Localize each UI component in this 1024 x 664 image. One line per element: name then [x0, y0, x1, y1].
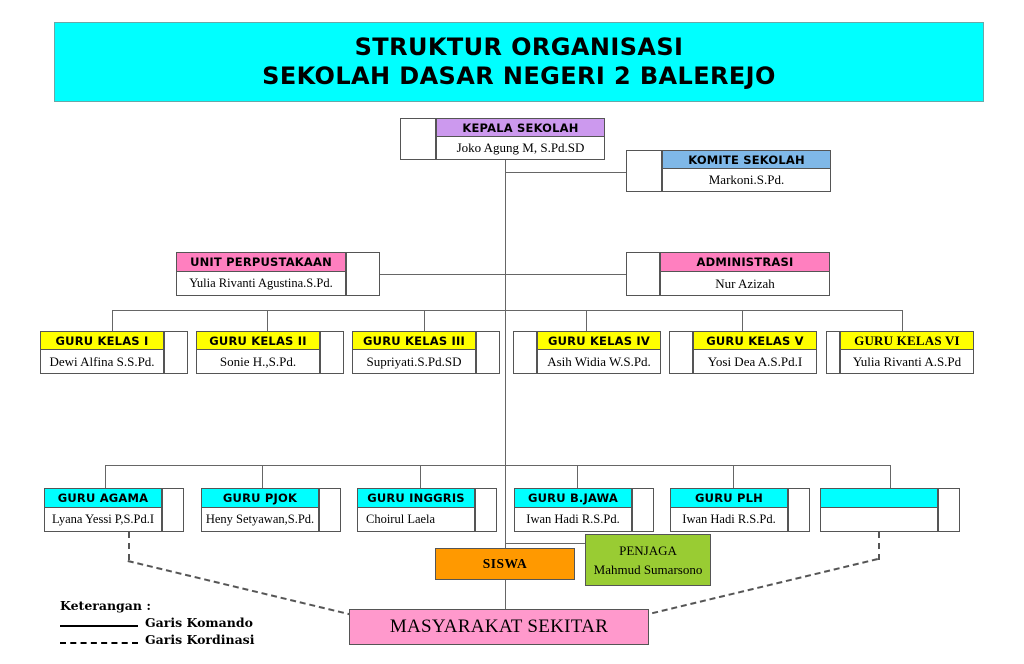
- node-guru-bjawa[interactable]: GURU B.JAWA Iwan Hadi R.S.Pd.: [514, 488, 654, 532]
- connector-stub-kelas-6: [826, 331, 840, 374]
- node-guru-kelas-3[interactable]: GURU KELAS III Supriyati.S.Pd.SD: [352, 331, 500, 374]
- node-guru-kelas-4-name: Asih Widia W.S.Pd.: [537, 350, 661, 374]
- connector-stub-kelas-5: [669, 331, 693, 374]
- node-guru-inggris[interactable]: GURU INGGRIS Choirul Laela: [357, 488, 497, 532]
- node-guru-bjawa-body: GURU B.JAWA Iwan Hadi R.S.Pd.: [514, 488, 632, 532]
- connector-admin-row: [379, 274, 627, 275]
- connector-drop-mapel-3: [420, 465, 421, 489]
- legend-row-komando: Garis Komando: [60, 615, 254, 631]
- organization-chart: STRUKTUR ORGANISASI SEKOLAH DASAR NEGERI…: [0, 0, 1024, 664]
- connector-stub-bjawa: [632, 488, 654, 532]
- legend-kordinasi-label: Garis Kordinasi: [145, 632, 254, 648]
- node-guru-kelas-2-body: GURU KELAS II Sonie H.,S.Pd.: [196, 331, 320, 374]
- chart-title-line-2: SEKOLAH DASAR NEGERI 2 BALEREJO: [262, 62, 776, 91]
- node-guru-kelas-5[interactable]: GURU KELAS V Yosi Dea A.S.Pd.I: [669, 331, 817, 374]
- node-unit-perpustakaan[interactable]: UNIT PERPUSTAKAAN Yulia Rivanti Agustina…: [176, 252, 380, 296]
- connector-drop-mapel-6: [890, 465, 891, 489]
- node-guru-kelas-2-name: Sonie H.,S.Pd.: [196, 350, 320, 374]
- node-administrasi-title: ADMINISTRASI: [660, 252, 830, 272]
- node-guru-kelas-3-body: GURU KELAS III Supriyati.S.Pd.SD: [352, 331, 476, 374]
- node-guru-pjok-title: GURU PJOK: [201, 488, 319, 508]
- node-komite-title: KOMITE SEKOLAH: [662, 150, 831, 169]
- legend: Keterangan : Garis Komando Garis Kordina…: [60, 598, 254, 647]
- connector-stub-kelas-2: [320, 331, 344, 374]
- node-guru-empty-title: [820, 488, 938, 508]
- node-guru-agama[interactable]: GURU AGAMA Lyana Yessi P,S.Pd.I: [44, 488, 184, 532]
- node-kepala-sekolah[interactable]: KEPALA SEKOLAH Joko Agung M, S.Pd.SD: [400, 118, 605, 160]
- connector-drop-mapel-5: [733, 465, 734, 489]
- connector-drop-kelas-6: [902, 310, 903, 332]
- node-guru-kelas-1-body: GURU KELAS I Dewi Alfina S.S.Pd.: [40, 331, 164, 374]
- node-siswa[interactable]: SISWA: [435, 548, 575, 580]
- connector-stub-komite: [626, 150, 662, 192]
- node-guru-agama-name: Lyana Yessi P,S.Pd.I: [44, 508, 162, 532]
- node-perpustakaan-name: Yulia Rivanti Agustina.S.Pd.: [176, 272, 346, 296]
- node-perpustakaan-title: UNIT PERPUSTAKAAN: [176, 252, 346, 272]
- connector-stub-plh: [788, 488, 810, 532]
- legend-komando-label: Garis Komando: [145, 615, 253, 631]
- node-guru-kelas-6-title: GURU KELAS VI: [840, 331, 974, 350]
- connector-drop-kelas-2: [267, 310, 268, 332]
- node-kepala-body: KEPALA SEKOLAH Joko Agung M, S.Pd.SD: [436, 118, 605, 160]
- node-guru-inggris-title: GURU INGGRIS: [357, 488, 475, 508]
- connector-stub-kepala: [400, 118, 436, 160]
- node-guru-agama-title: GURU AGAMA: [44, 488, 162, 508]
- connector-stub-administrasi: [626, 252, 660, 296]
- connector-guru-mapel-bus: [105, 465, 890, 466]
- node-guru-inggris-body: GURU INGGRIS Choirul Laela: [357, 488, 475, 532]
- node-perpustakaan-body: UNIT PERPUSTAKAAN Yulia Rivanti Agustina…: [176, 252, 346, 296]
- node-guru-plh-name: Iwan Hadi R.S.Pd.: [670, 508, 788, 532]
- connector-stub-agama: [162, 488, 184, 532]
- node-guru-kelas-2-title: GURU KELAS II: [196, 331, 320, 350]
- connector-to-komite: [505, 172, 627, 173]
- connector-drop-kelas-4: [586, 310, 587, 332]
- connector-drop-mapel-1: [105, 465, 106, 489]
- coordination-line-left-stub: [128, 532, 130, 560]
- connector-drop-kelas-5: [742, 310, 743, 332]
- node-masyarakat-sekitar[interactable]: MASYARAKAT SEKITAR: [349, 609, 649, 645]
- node-guru-kelas-2[interactable]: GURU KELAS II Sonie H.,S.Pd.: [196, 331, 344, 374]
- node-kepala-title: KEPALA SEKOLAH: [436, 118, 605, 137]
- coordination-line-right-stub: [878, 532, 880, 560]
- connector-stub-kelas-4: [513, 331, 537, 374]
- node-guru-kelas-4[interactable]: GURU KELAS IV Asih Widia W.S.Pd.: [513, 331, 661, 374]
- node-guru-kelas-5-body: GURU KELAS V Yosi Dea A.S.Pd.I: [693, 331, 817, 374]
- node-guru-kelas-1-name: Dewi Alfina S.S.Pd.: [40, 350, 164, 374]
- node-guru-bjawa-title: GURU B.JAWA: [514, 488, 632, 508]
- node-guru-kelas-3-title: GURU KELAS III: [352, 331, 476, 350]
- node-guru-plh-title: GURU PLH: [670, 488, 788, 508]
- node-guru-bjawa-name: Iwan Hadi R.S.Pd.: [514, 508, 632, 532]
- node-guru-kelas-4-body: GURU KELAS IV Asih Widia W.S.Pd.: [537, 331, 661, 374]
- node-guru-kelas-1[interactable]: GURU KELAS I Dewi Alfina S.S.Pd.: [40, 331, 188, 374]
- node-guru-plh[interactable]: GURU PLH Iwan Hadi R.S.Pd.: [670, 488, 810, 532]
- node-guru-plh-body: GURU PLH Iwan Hadi R.S.Pd.: [670, 488, 788, 532]
- connector-guru-kelas-bus: [112, 310, 902, 311]
- node-penjaga-name: Mahmud Sumarsono: [594, 562, 703, 578]
- node-guru-empty-body: [820, 488, 938, 532]
- connector-stub-perpustakaan: [346, 252, 380, 296]
- node-guru-inggris-name: Choirul Laela: [357, 508, 475, 532]
- node-penjaga-title: PENJAGA: [619, 543, 677, 559]
- node-guru-kelas-4-title: GURU KELAS IV: [537, 331, 661, 350]
- node-komite-body: KOMITE SEKOLAH Markoni.S.Pd.: [662, 150, 831, 192]
- connector-stub-kelas-3: [476, 331, 500, 374]
- node-guru-agama-body: GURU AGAMA Lyana Yessi P,S.Pd.I: [44, 488, 162, 532]
- legend-row-kordinasi: Garis Kordinasi: [60, 632, 254, 648]
- connector-stub-pjok: [319, 488, 341, 532]
- node-masyarakat-label: MASYARAKAT SEKITAR: [390, 616, 608, 638]
- node-guru-kelas-6-body: GURU KELAS VI Yulia Rivanti A.S.Pd: [840, 331, 974, 374]
- connector-stub-inggris: [475, 488, 497, 532]
- connector-drop-kelas-1: [112, 310, 113, 332]
- node-guru-kelas-3-name: Supriyati.S.Pd.SD: [352, 350, 476, 374]
- node-guru-kelas-5-name: Yosi Dea A.S.Pd.I: [693, 350, 817, 374]
- node-guru-kelas-6[interactable]: GURU KELAS VI Yulia Rivanti A.S.Pd: [826, 331, 974, 374]
- node-guru-pjok-name: Heny Setyawan,S.Pd.: [201, 508, 319, 532]
- node-guru-kelas-5-title: GURU KELAS V: [693, 331, 817, 350]
- legend-solid-line-icon: [60, 618, 138, 627]
- node-guru-empty-name: [820, 508, 938, 532]
- connector-drop-mapel-2: [262, 465, 263, 489]
- node-siswa-label: SISWA: [483, 556, 528, 572]
- node-guru-empty[interactable]: [820, 488, 960, 532]
- legend-dashed-line-icon: [60, 635, 138, 644]
- node-administrasi[interactable]: ADMINISTRASI Nur Azizah: [626, 252, 830, 296]
- node-guru-kelas-6-name: Yulia Rivanti A.S.Pd: [840, 350, 974, 374]
- legend-heading: Keterangan :: [60, 598, 254, 613]
- connector-stub-empty: [938, 488, 960, 532]
- connector-drop-kelas-3: [424, 310, 425, 332]
- chart-title-banner: STRUKTUR ORGANISASI SEKOLAH DASAR NEGERI…: [54, 22, 984, 102]
- node-kepala-name: Joko Agung M, S.Pd.SD: [436, 137, 605, 160]
- connector-drop-mapel-4: [577, 465, 578, 489]
- node-guru-pjok-body: GURU PJOK Heny Setyawan,S.Pd.: [201, 488, 319, 532]
- node-guru-pjok[interactable]: GURU PJOK Heny Setyawan,S.Pd.: [201, 488, 341, 532]
- node-komite-sekolah[interactable]: KOMITE SEKOLAH Markoni.S.Pd.: [626, 150, 831, 192]
- node-administrasi-body: ADMINISTRASI Nur Azizah: [660, 252, 830, 296]
- chart-title-line-1: STRUKTUR ORGANISASI: [355, 33, 684, 62]
- node-administrasi-name: Nur Azizah: [660, 272, 830, 296]
- node-komite-name: Markoni.S.Pd.: [662, 169, 831, 192]
- node-guru-kelas-1-title: GURU KELAS I: [40, 331, 164, 350]
- connector-stub-kelas-1: [164, 331, 188, 374]
- node-penjaga[interactable]: PENJAGA Mahmud Sumarsono: [585, 534, 711, 586]
